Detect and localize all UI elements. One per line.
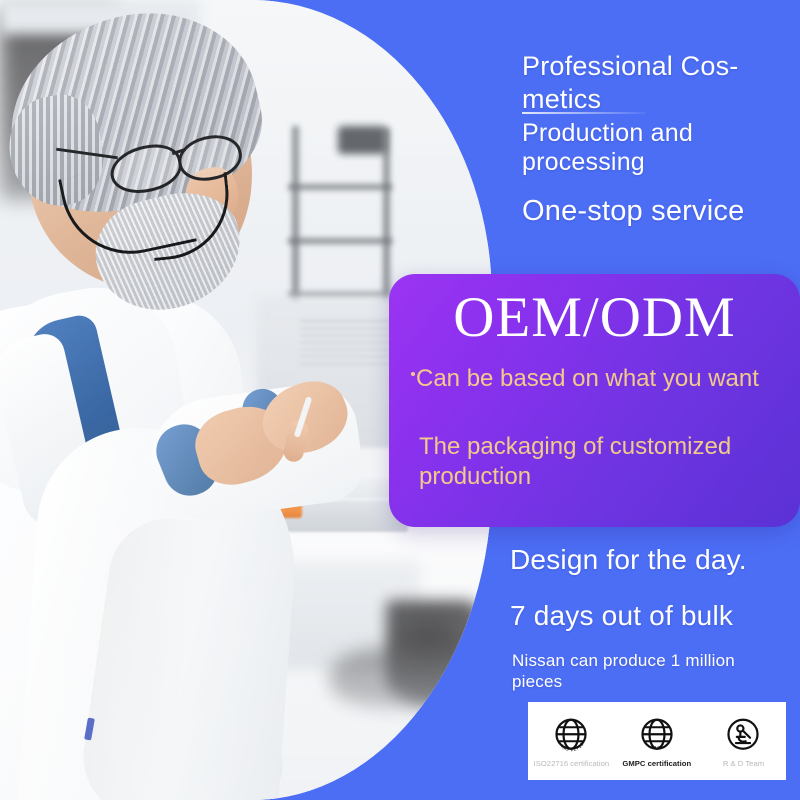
badge-rd-team: R & D Team — [702, 702, 784, 780]
globe-icon: GMPC — [635, 714, 679, 758]
panel-bullet-1: Can be based on what you want — [416, 364, 788, 394]
badge-caption-rd: R & D Team — [722, 759, 763, 768]
headline-professional-cosmetics: Professional Cos- metics — [522, 50, 790, 116]
lower-line-capacity: Nissan can produce 1 million pieces — [512, 650, 770, 692]
panel-title: OEM/ODM — [389, 286, 800, 350]
content-column: Professional Cos- metics Production and … — [0, 0, 800, 800]
advertisement-banner: Professional Cos- metics Production and … — [0, 0, 800, 800]
certification-badges: ISO 22716 ISO22716 certification GMPC — [528, 702, 786, 780]
headline-divider — [522, 112, 646, 114]
badge-iso22716: ISO 22716 ISO22716 certification — [530, 702, 612, 780]
headline-line-3: Production and — [522, 119, 693, 147]
headline-line-4: processing — [522, 148, 645, 176]
bullet-dot — [411, 372, 415, 376]
microscope-icon — [721, 714, 765, 758]
lower-line-design: Design for the day. — [510, 543, 796, 577]
headline-line-2: metics — [522, 84, 601, 114]
badge-gmpc: GMPC GMPC certification — [616, 702, 698, 780]
badge-caption-iso: ISO22716 certification — [533, 759, 609, 768]
badge-caption-gmpc: GMPC certification — [623, 759, 692, 768]
headline-one-stop-service: One-stop service — [522, 193, 794, 229]
headline-line-1: Professional Cos- — [522, 51, 739, 81]
svg-text:ISO 22716: ISO 22716 — [559, 741, 585, 753]
oem-odm-panel: OEM/ODM Can be based on what you want Th… — [389, 274, 800, 527]
lower-line-seven-days: 7 days out of bulk — [510, 599, 796, 633]
headline-production-processing: Production and processing — [522, 119, 792, 177]
panel-bullet-2: The packaging of customized production — [419, 432, 794, 492]
globe-icon: ISO 22716 — [549, 714, 593, 758]
